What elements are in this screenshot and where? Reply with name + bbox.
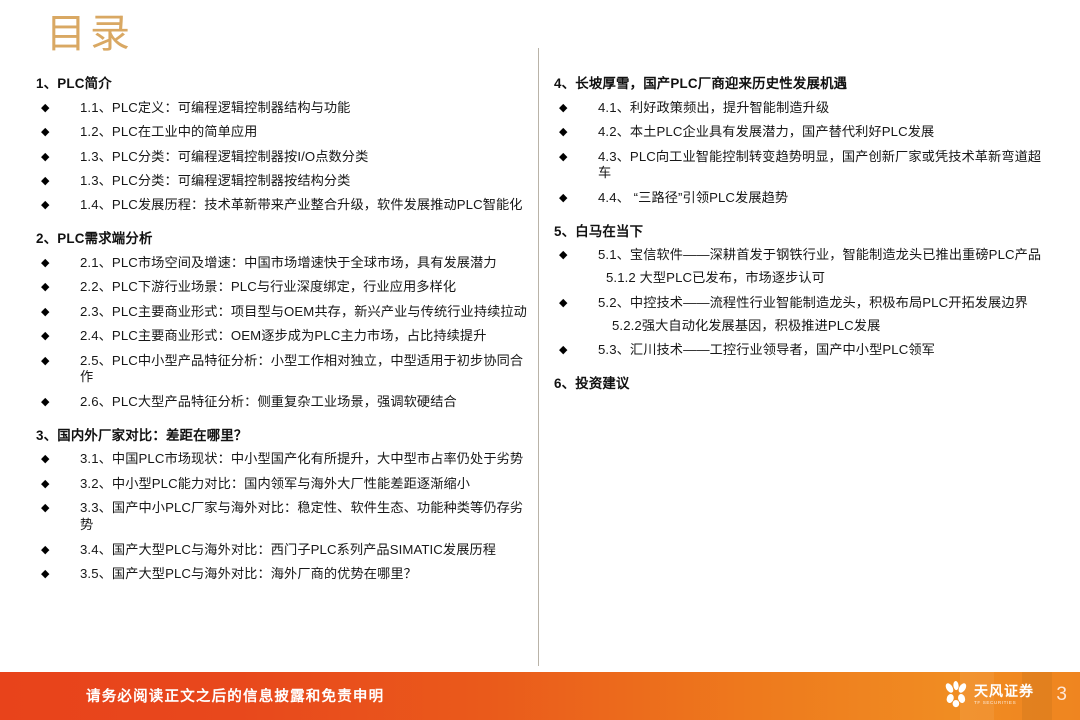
column-divider [538,48,539,666]
diamond-bullet-icon: ◆ [559,343,568,359]
footer-bar: 请务必阅读正文之后的信息披露和免责申明 天风证券 TF SECURITIES 3 [0,672,1080,720]
toc-sub-entry[interactable]: 5.1.2 大型PLC已发布，市场逐步认可 [598,270,1054,287]
diamond-bullet-icon: ◆ [559,101,568,117]
toc-entry[interactable]: ◆1.3、PLC分类：可编程逻辑控制器按结构分类 [36,173,528,190]
toc-entry[interactable]: ◆ 5.2、中控技术——流程性行业智能制造龙头，积极布局PLC开拓发展边界 5.… [554,295,1054,335]
toc-entry-label: 2.1、PLC市场空间及增速：中国市场增速快于全球市场，具有发展潜力 [80,255,497,270]
toc-section-2: 2、PLC需求端分析 ◆2.1、PLC市场空间及增速：中国市场增速快于全球市场，… [36,231,528,410]
toc-entry[interactable]: ◆3.3、国产中小PLC厂家与海外对比：稳定性、软件生态、功能种类等仍存劣势 [36,500,528,534]
toc-entry-label: 4.3、PLC向工业智能控制转变趋势明显，国产创新厂家或凭技术革新弯道超车 [598,149,1041,181]
diamond-bullet-icon: ◆ [41,354,50,370]
toc-left-column: 1、PLC简介 ◆1.1、PLC定义：可编程逻辑控制器结构与功能 ◆1.2、PL… [36,76,528,583]
toc-entry-label: 4.4、 “三路径”引领PLC发展趋势 [598,190,788,205]
toc-entry[interactable]: ◆3.4、国产大型PLC与海外对比：西门子PLC系列产品SIMATIC发展历程 [36,542,528,559]
toc-entry[interactable]: ◆ 5.1、宝信软件——深耕首发于钢铁行业，智能制造龙头已推出重磅PLC产品 5… [554,247,1054,287]
toc-entry-label: 2.2、PLC下游行业场景：PLC与行业深度绑定，行业应用多样化 [80,279,456,294]
toc-entry[interactable]: ◆1.2、PLC在工业中的简单应用 [36,124,528,141]
toc-section-6: 6、投资建议 [554,376,1054,393]
diamond-bullet-icon: ◆ [41,477,50,493]
diamond-bullet-icon: ◆ [559,191,568,207]
toc-entry-label: 2.6、PLC大型产品特征分析：侧重复杂工业场景，强调软硬结合 [80,394,457,409]
toc-entry[interactable]: ◆2.5、PLC中小型产品特征分析：小型工作相对独立，中型适用于初步协同合作 [36,353,528,387]
toc-entry[interactable]: ◆4.2、本土PLC企业具有发展潜力，国产替代利好PLC发展 [554,124,1054,141]
page-title: 目录 [46,14,134,54]
toc-right-column: 4、长坡厚雪，国产PLC厂商迎来历史性发展机遇 ◆4.1、利好政策频出，提升智能… [554,76,1054,400]
section-item-list: ◆4.1、利好政策频出，提升智能制造升级 ◆4.2、本土PLC企业具有发展潜力，… [554,100,1054,207]
section-item-list: ◆1.1、PLC定义：可编程逻辑控制器结构与功能 ◆1.2、PLC在工业中的简单… [36,100,528,214]
toc-entry[interactable]: ◆2.3、PLC主要商业形式：项目型与OEM共存，新兴产业与传统行业持续拉动 [36,304,528,321]
toc-entry-label: 4.2、本土PLC企业具有发展潜力，国产替代利好PLC发展 [598,124,934,139]
brand-logo: 天风证券 TF SECURITIES [943,681,1034,709]
page-number: 3 [1056,684,1067,706]
toc-entry-label: 1.1、PLC定义：可编程逻辑控制器结构与功能 [80,100,350,115]
toc-entry[interactable]: ◆2.6、PLC大型产品特征分析：侧重复杂工业场景，强调软硬结合 [36,394,528,411]
toc-section-4: 4、长坡厚雪，国产PLC厂商迎来历史性发展机遇 ◆4.1、利好政策频出，提升智能… [554,76,1054,207]
section-item-list: ◆3.1、中国PLC市场现状：中小型国产化有所提升，大中型市占率仍处于劣势 ◆3… [36,451,528,582]
diamond-bullet-icon: ◆ [41,198,50,214]
brand-name-en: TF SECURITIES [974,701,1034,706]
toc-entry-label: 2.5、PLC中小型产品特征分析：小型工作相对独立，中型适用于初步协同合作 [80,353,523,385]
toc-entry[interactable]: ◆1.4、PLC发展历程：技术革新带来产业整合升级，软件发展推动PLC智能化 [36,197,528,214]
diamond-bullet-icon: ◆ [41,101,50,117]
diamond-bullet-icon: ◆ [41,501,50,517]
diamond-bullet-icon: ◆ [41,395,50,411]
toc-entry[interactable]: ◆ 5.3、汇川技术——工控行业领导者，国产中小型PLC领军 [554,342,1054,359]
toc-entry-label: 2.4、PLC主要商业形式：OEM逐步成为PLC主力市场，占比持续提升 [80,328,487,343]
diamond-bullet-icon: ◆ [559,296,568,312]
toc-entry-label: 4.1、利好政策频出，提升智能制造升级 [598,100,829,115]
toc-section-5: 5、白马在当下 ◆ 5.1、宝信软件——深耕首发于钢铁行业，智能制造龙头已推出重… [554,224,1054,359]
section-item-list: ◆2.1、PLC市场空间及增速：中国市场增速快于全球市场，具有发展潜力 ◆2.2… [36,255,528,411]
toc-entry-label: 1.4、PLC发展历程：技术革新带来产业整合升级，软件发展推动PLC智能化 [80,197,523,212]
toc-entry[interactable]: ◆2.1、PLC市场空间及增速：中国市场增速快于全球市场，具有发展潜力 [36,255,528,272]
section-heading: 5、白马在当下 [554,224,1054,241]
toc-section-1: 1、PLC简介 ◆1.1、PLC定义：可编程逻辑控制器结构与功能 ◆1.2、PL… [36,76,528,214]
diamond-bullet-icon: ◆ [41,280,50,296]
toc-entry[interactable]: ◆3.5、国产大型PLC与海外对比：海外厂商的优势在哪里？ [36,566,528,583]
section-item-list: ◆ 5.1、宝信软件——深耕首发于钢铁行业，智能制造龙头已推出重磅PLC产品 5… [554,247,1054,358]
slide-root: 目录 1、PLC简介 ◆1.1、PLC定义：可编程逻辑控制器结构与功能 ◆1.2… [0,0,1080,720]
toc-entry-label: 1.3、PLC分类：可编程逻辑控制器按I/O点数分类 [80,149,368,164]
toc-entry-label: 3.4、国产大型PLC与海外对比：西门子PLC系列产品SIMATIC发展历程 [80,542,496,557]
diamond-bullet-icon: ◆ [41,256,50,272]
toc-entry[interactable]: ◆4.4、 “三路径”引领PLC发展趋势 [554,190,1054,207]
diamond-bullet-icon: ◆ [41,125,50,141]
toc-section-3: 3、国内外厂家对比：差距在哪里？ ◆3.1、中国PLC市场现状：中小型国产化有所… [36,428,528,583]
toc-entry-label: 2.3、PLC主要商业形式：项目型与OEM共存，新兴产业与传统行业持续拉动 [80,304,527,319]
section-heading: 1、PLC简介 [36,76,528,93]
diamond-bullet-icon: ◆ [559,150,568,166]
brand-name-cn: 天风证券 [974,684,1034,698]
diamond-bullet-icon: ◆ [41,543,50,559]
section-heading: 6、投资建议 [554,376,1054,393]
toc-entry[interactable]: ◆2.2、PLC下游行业场景：PLC与行业深度绑定，行业应用多样化 [36,279,528,296]
section-heading: 3、国内外厂家对比：差距在哪里？ [36,428,528,445]
section-heading: 4、长坡厚雪，国产PLC厂商迎来历史性发展机遇 [554,76,1054,93]
diamond-bullet-icon: ◆ [41,452,50,468]
toc-entry[interactable]: ◆4.3、PLC向工业智能控制转变趋势明显，国产创新厂家或凭技术革新弯道超车 [554,149,1054,183]
toc-entry[interactable]: ◆1.1、PLC定义：可编程逻辑控制器结构与功能 [36,100,528,117]
toc-entry-label: 5.3、汇川技术——工控行业领导者，国产中小型PLC领军 [598,342,935,357]
diamond-bullet-icon: ◆ [559,125,568,141]
diamond-bullet-icon: ◆ [41,329,50,345]
toc-sub-entry[interactable]: 5.2.2强大自动化发展基因，积极推进PLC发展 [598,318,1054,335]
toc-entry[interactable]: ◆3.2、中小型PLC能力对比：国内领军与海外大厂性能差距逐渐缩小 [36,476,528,493]
toc-entry-label: 1.2、PLC在工业中的简单应用 [80,124,257,139]
diamond-bullet-icon: ◆ [41,174,50,190]
toc-entry[interactable]: ◆3.1、中国PLC市场现状：中小型国产化有所提升，大中型市占率仍处于劣势 [36,451,528,468]
toc-entry-label: 3.1、中国PLC市场现状：中小型国产化有所提升，大中型市占率仍处于劣势 [80,451,523,466]
toc-entry-label: 5.1、宝信软件——深耕首发于钢铁行业，智能制造龙头已推出重磅PLC产品 [598,247,1041,262]
diamond-bullet-icon: ◆ [41,305,50,321]
butterfly-logo-icon [943,681,969,709]
toc-entry-label: 1.3、PLC分类：可编程逻辑控制器按结构分类 [80,173,350,188]
toc-entry[interactable]: ◆4.1、利好政策频出，提升智能制造升级 [554,100,1054,117]
section-heading: 2、PLC需求端分析 [36,231,528,248]
toc-entry-label: 3.5、国产大型PLC与海外对比：海外厂商的优势在哪里？ [80,566,417,581]
toc-entry-label: 5.2、中控技术——流程性行业智能制造龙头，积极布局PLC开拓发展边界 [598,295,1028,310]
diamond-bullet-icon: ◆ [41,567,50,583]
diamond-bullet-icon: ◆ [41,150,50,166]
toc-entry-label: 3.3、国产中小PLC厂家与海外对比：稳定性、软件生态、功能种类等仍存劣势 [80,500,523,532]
toc-entry[interactable]: ◆2.4、PLC主要商业形式：OEM逐步成为PLC主力市场，占比持续提升 [36,328,528,345]
brand-logo-text: 天风证券 TF SECURITIES [974,684,1034,706]
toc-entry-label: 3.2、中小型PLC能力对比：国内领军与海外大厂性能差距逐渐缩小 [80,476,470,491]
diamond-bullet-icon: ◆ [559,248,568,264]
footer-disclaimer: 请务必阅读正文之后的信息披露和免责申明 [86,685,384,706]
toc-entry[interactable]: ◆1.3、PLC分类：可编程逻辑控制器按I/O点数分类 [36,149,528,166]
